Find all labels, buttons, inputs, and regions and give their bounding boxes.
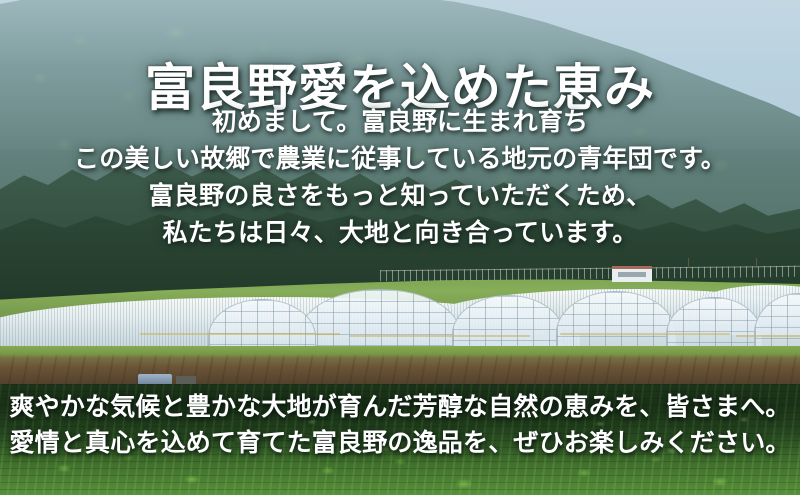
greenhouse-tie-band xyxy=(736,335,800,337)
intro-line-3: 富良野の良さをもっと知っていただくため、 xyxy=(0,178,800,215)
intro-paragraph: 初めまして。富良野に生まれ育ち この美しい故郷で農業に従事している地元の青年団で… xyxy=(0,104,800,252)
greenhouse-tie-band xyxy=(140,333,340,335)
ridge-pole-icon xyxy=(688,258,689,268)
furano-banner: 富良野愛を込めた恵み 初めまして。富良野に生まれ育ち この美しい故郷で農業に従事… xyxy=(0,0,800,495)
intro-line-4: 私たちは日々、大地と向き合っています。 xyxy=(0,215,800,252)
intro-line-2: この美しい故郷で農業に従事している地元の青年団です。 xyxy=(0,141,800,178)
intro-line-1: 初めまして。富良野に生まれ育ち xyxy=(0,104,800,141)
embankment-grass-top xyxy=(0,346,800,358)
caption-line-2: 愛情と真心を込めて育てた富良野の逸品を、ぜひお楽しみください。 xyxy=(0,426,800,462)
ridge-pole-icon xyxy=(756,258,757,268)
greenhouse-tie-band xyxy=(560,333,730,335)
caption-line-1: 爽やかな気候と豊かな大地が育んだ芳醇な自然の恵みを、皆さまへ。 xyxy=(0,390,800,426)
greenhouse-tie-band xyxy=(350,335,530,337)
greenhouse-band xyxy=(0,283,800,355)
ridge-building-window xyxy=(618,272,646,277)
bottom-caption: 爽やかな気候と豊かな大地が育んだ芳醇な自然の恵みを、皆さまへ。 愛情と真心を込め… xyxy=(0,390,800,462)
